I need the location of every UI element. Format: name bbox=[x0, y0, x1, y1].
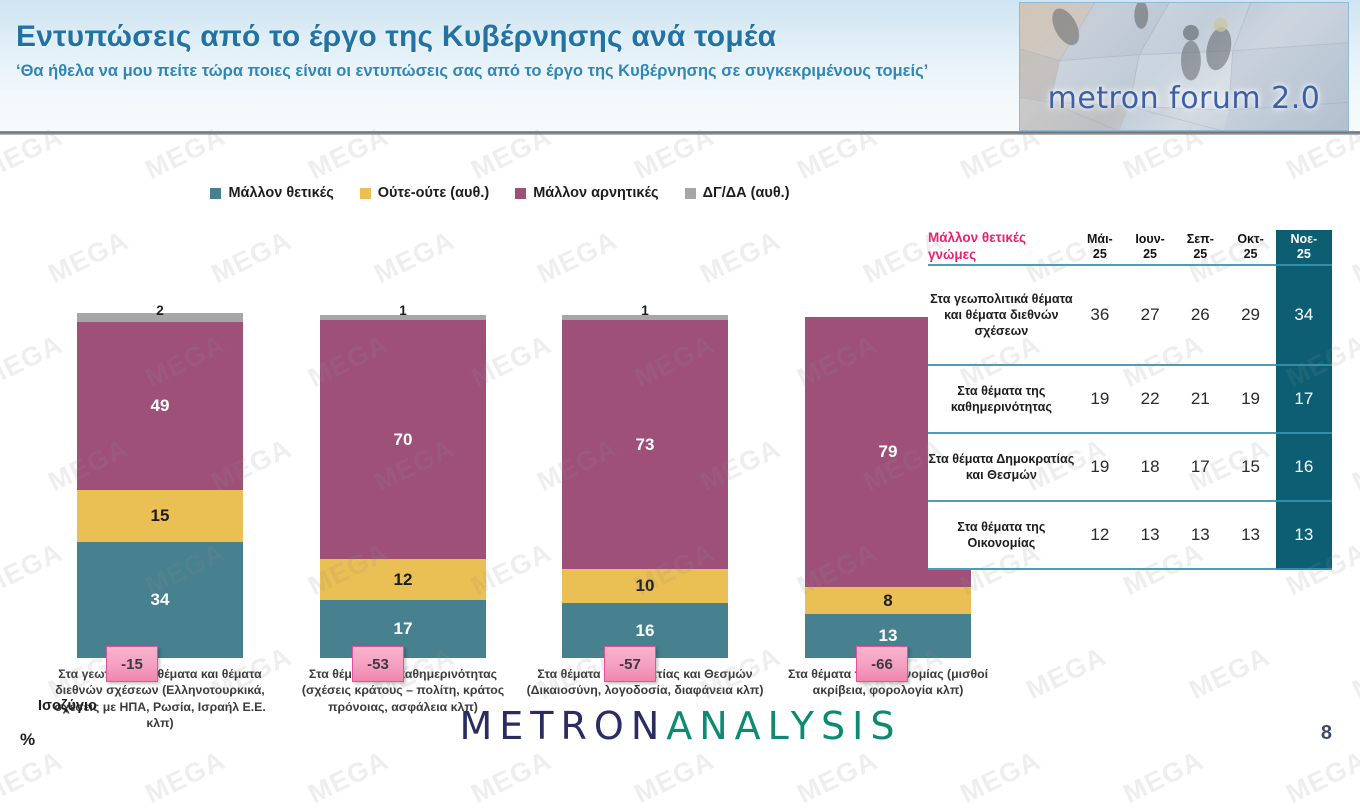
table-row-4-val-2: 13 bbox=[1125, 501, 1175, 569]
balance-value-4: -66 bbox=[871, 656, 893, 673]
bar-group-democracy[interactable]: 1 73 10 16 bbox=[562, 317, 728, 658]
page-number: 8 bbox=[1321, 722, 1332, 745]
table-row-4-current: 13 bbox=[1276, 501, 1332, 569]
table-row-2-val-1: 19 bbox=[1075, 365, 1125, 433]
table-header-col-current-year: 25 bbox=[1276, 247, 1332, 262]
table-row: Στα θέματα της Οικονομίας 12 13 13 13 13 bbox=[928, 501, 1332, 569]
table-header-col-3: Σεπ- 25 bbox=[1175, 230, 1225, 265]
table-header-col-4: Οκτ- 25 bbox=[1225, 230, 1275, 265]
table-row-2-val-2: 22 bbox=[1125, 365, 1175, 433]
segment-value-positive-3: 16 bbox=[636, 621, 655, 641]
table-row-3-current: 16 bbox=[1276, 433, 1332, 501]
segment-neutral-1: 15 bbox=[77, 490, 243, 542]
table-header-col-current: Νοε- 25 bbox=[1276, 230, 1332, 265]
chart-legend: Μάλλον θετικές Ούτε-ούτε (αυθ.) Μάλλον α… bbox=[0, 185, 1000, 201]
balance-box-3: -57 bbox=[604, 646, 656, 682]
balance-value-3: -57 bbox=[619, 656, 641, 673]
table-row-2-val-4: 19 bbox=[1225, 365, 1275, 433]
metron-forum-logo: metron forum 2.0 bbox=[1019, 2, 1349, 131]
legend-item-negative: Μάλλον αρνητικές bbox=[515, 185, 658, 201]
segment-value-negative-2: 70 bbox=[394, 430, 413, 450]
legend-item-neutral: Ούτε-ούτε (αυθ.) bbox=[360, 185, 489, 201]
table-header-col-2: Ιουν- 25 bbox=[1125, 230, 1175, 265]
segment-positive-1: 34 bbox=[77, 542, 243, 658]
table-row-4-label: Στα θέματα της Οικονομίας bbox=[928, 501, 1075, 569]
table-row-3-label: Στα θέματα Δημοκρατίας και Θεσμών bbox=[928, 433, 1075, 501]
legend-swatch-negative bbox=[515, 188, 526, 199]
segment-value-neutral-2: 12 bbox=[394, 570, 413, 590]
table-header-col-4-month: Οκτ- bbox=[1225, 232, 1275, 247]
segment-negative-1: 49 bbox=[77, 322, 243, 490]
legend-label-dk: ΔΓ/ΔΑ (αυθ.) bbox=[703, 185, 790, 201]
segment-neutral-3: 10 bbox=[562, 569, 728, 603]
table-row-2-current: 17 bbox=[1276, 365, 1332, 433]
balance-value-1: -15 bbox=[121, 656, 143, 673]
table-row-4-val-4: 13 bbox=[1225, 501, 1275, 569]
bar-group-geopolitics[interactable]: 2 49 15 34 bbox=[77, 313, 243, 658]
table-row-3-val-1: 19 bbox=[1075, 433, 1125, 501]
segment-value-positive-4: 13 bbox=[879, 626, 898, 646]
table-row-3-val-3: 17 bbox=[1175, 433, 1225, 501]
segment-value-positive-1: 34 bbox=[151, 590, 170, 610]
segment-neutral-4: 8 bbox=[805, 587, 971, 614]
table-row: Στα γεωπολιτικά θέματα και θέματα διεθνώ… bbox=[928, 265, 1332, 365]
segment-negative-2: 70 bbox=[320, 320, 486, 559]
segment-value-neutral-4: 8 bbox=[883, 591, 892, 611]
table-header-col-4-year: 25 bbox=[1225, 247, 1275, 262]
legend-item-positive: Μάλλον θετικές bbox=[210, 185, 333, 201]
table-row-2-val-3: 21 bbox=[1175, 365, 1225, 433]
balance-unit-label: % bbox=[20, 730, 35, 750]
table-row-1-val-3: 26 bbox=[1175, 265, 1225, 365]
table-header-col-1: Μάι- 25 bbox=[1075, 230, 1125, 265]
segment-value-negative-1: 49 bbox=[151, 396, 170, 416]
table-row-2-label: Στα θέματα της καθημερινότητας bbox=[928, 365, 1075, 433]
table-header-col-3-month: Σεπ- bbox=[1175, 232, 1225, 247]
segment-value-neutral-3: 10 bbox=[636, 576, 655, 596]
table-header-col-current-month: Νοε- bbox=[1276, 232, 1332, 247]
balance-box-1: -15 bbox=[106, 646, 158, 682]
legend-item-dk: ΔΓ/ΔΑ (αυθ.) bbox=[685, 185, 790, 201]
segment-value-neutral-1: 15 bbox=[151, 506, 170, 526]
table-row-4-val-1: 12 bbox=[1075, 501, 1125, 569]
balance-value-2: -53 bbox=[367, 656, 389, 673]
table-header-row: Μάλλον θετικές γνώμες Μάι- 25 Ιουν- 25 Σ… bbox=[928, 230, 1332, 265]
page-subtitle: ‘Θα ήθελα να μου πείτε τώρα ποιες είναι … bbox=[16, 60, 1001, 83]
brand-metron-text: METRON bbox=[460, 704, 667, 748]
segment-value-dk-1: 2 bbox=[156, 303, 164, 318]
segment-value-negative-4: 79 bbox=[879, 442, 898, 462]
table-row-3-val-4: 15 bbox=[1225, 433, 1275, 501]
segment-dk-1: 2 bbox=[77, 313, 243, 322]
brand-analysis-text: ANALYSIS bbox=[666, 704, 901, 748]
forum-logo-text: metron forum 2.0 bbox=[1020, 81, 1348, 116]
table-header-col-2-year: 25 bbox=[1125, 247, 1175, 262]
segment-negative-3: 73 bbox=[562, 320, 728, 569]
table-header-col-1-month: Μάι- bbox=[1075, 232, 1125, 247]
trend-table: Μάλλον θετικές γνώμες Μάι- 25 Ιουν- 25 Σ… bbox=[928, 230, 1332, 570]
table-header-col-1-year: 25 bbox=[1075, 247, 1125, 262]
bar-group-daily-life[interactable]: 1 70 12 17 bbox=[320, 317, 486, 658]
legend-swatch-neutral bbox=[360, 188, 371, 199]
legend-swatch-dk bbox=[685, 188, 696, 199]
table-row-1-val-1: 36 bbox=[1075, 265, 1125, 365]
table-row-1-val-4: 29 bbox=[1225, 265, 1275, 365]
page-title: Εντυπώσεις από το έργο της Κυβέρνησης αν… bbox=[16, 20, 1006, 54]
segment-value-dk-3: 1 bbox=[641, 303, 649, 318]
trend-table-grid: Μάλλον θετικές γνώμες Μάι- 25 Ιουν- 25 Σ… bbox=[928, 230, 1332, 570]
legend-label-neutral: Ούτε-ούτε (αυθ.) bbox=[378, 185, 489, 201]
segment-neutral-2: 12 bbox=[320, 559, 486, 600]
segment-value-positive-2: 17 bbox=[394, 619, 413, 639]
balance-box-4: -66 bbox=[856, 646, 908, 682]
table-row-4-val-3: 13 bbox=[1175, 501, 1225, 569]
table-row: Στα θέματα Δημοκρατίας και Θεσμών 19 18 … bbox=[928, 433, 1332, 501]
balance-axis-label: Ισοζύγιο bbox=[38, 698, 97, 714]
stacked-bar-plot: 2 49 15 34 1 70 12 17 bbox=[0, 228, 1000, 658]
table-row-1-label: Στα γεωπολιτικά θέματα και θέματα διεθνώ… bbox=[928, 265, 1075, 365]
table-row-1-val-2: 27 bbox=[1125, 265, 1175, 365]
legend-label-negative: Μάλλον αρνητικές bbox=[533, 185, 658, 201]
legend-label-positive: Μάλλον θετικές bbox=[228, 185, 333, 201]
table-header-title: Μάλλον θετικές γνώμες bbox=[928, 230, 1075, 265]
table-header-col-3-year: 25 bbox=[1175, 247, 1225, 262]
table-row-1-current: 34 bbox=[1276, 265, 1332, 365]
legend-swatch-positive bbox=[210, 188, 221, 199]
metron-analysis-logo: METRONANALYSIS bbox=[408, 703, 953, 749]
table-row: Στα θέματα της καθημερινότητας 19 22 21 … bbox=[928, 365, 1332, 433]
segment-value-negative-3: 73 bbox=[636, 435, 655, 455]
balance-box-2: -53 bbox=[352, 646, 404, 682]
table-row-3-val-2: 18 bbox=[1125, 433, 1175, 501]
table-header-col-2-month: Ιουν- bbox=[1125, 232, 1175, 247]
segment-value-dk-2: 1 bbox=[399, 303, 407, 318]
